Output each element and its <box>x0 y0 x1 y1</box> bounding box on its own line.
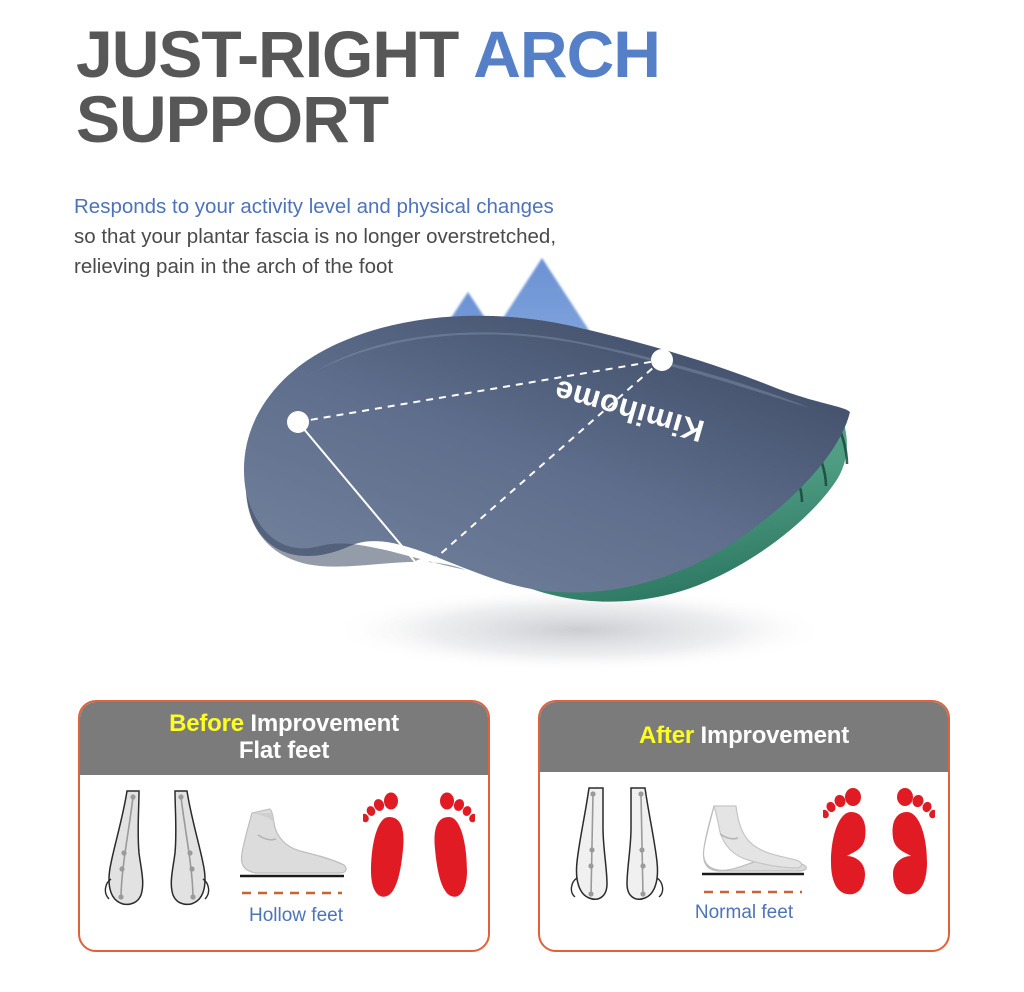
before-after-comparison: Before Improvement Flat feet <box>0 700 1024 970</box>
page-title: JUST-RIGHT ARCH SUPPORT <box>76 22 956 151</box>
panel-before-subtitle: Flat feet <box>239 737 329 764</box>
figure-foot-profile-arched <box>688 780 816 908</box>
figure-footprints-filled <box>363 783 475 911</box>
panel-after-header: After Improvement <box>540 702 948 772</box>
insole-hero-illustration: Kimihome <box>150 240 890 680</box>
vertex-marker-forefoot <box>411 559 433 581</box>
figure-foot-profile-flat <box>228 783 356 911</box>
panel-after-rest: Improvement <box>694 722 849 749</box>
subtitle-lead: Responds to your activity level and phys… <box>74 192 774 222</box>
panel-before-highlight: Before <box>169 710 244 737</box>
figure-rear-legs-aligned <box>553 780 681 908</box>
panel-after-highlight: After <box>639 722 694 749</box>
headline-line2: SUPPORT <box>76 82 388 156</box>
panel-before-rest: Improvement <box>244 710 399 737</box>
figure-footprints-arched <box>823 780 935 908</box>
insole-shadow <box>330 588 830 672</box>
headline-line1-plain: JUST-RIGHT <box>76 17 473 91</box>
panel-after: After Improvement <box>538 700 950 952</box>
panel-after-caption: Normal feet <box>540 902 948 924</box>
vertex-marker-heel <box>651 349 673 371</box>
vertex-marker-arch <box>287 411 309 433</box>
panel-before-body: Hollow feet <box>80 775 488 935</box>
figure-rear-legs-misaligned <box>93 783 221 911</box>
panel-before-header: Before Improvement Flat feet <box>80 702 488 775</box>
panel-before: Before Improvement Flat feet <box>78 700 490 952</box>
headline-line1-accent: ARCH <box>473 17 660 91</box>
panel-before-caption: Hollow feet <box>80 905 488 927</box>
panel-after-body: Normal feet <box>540 772 948 932</box>
